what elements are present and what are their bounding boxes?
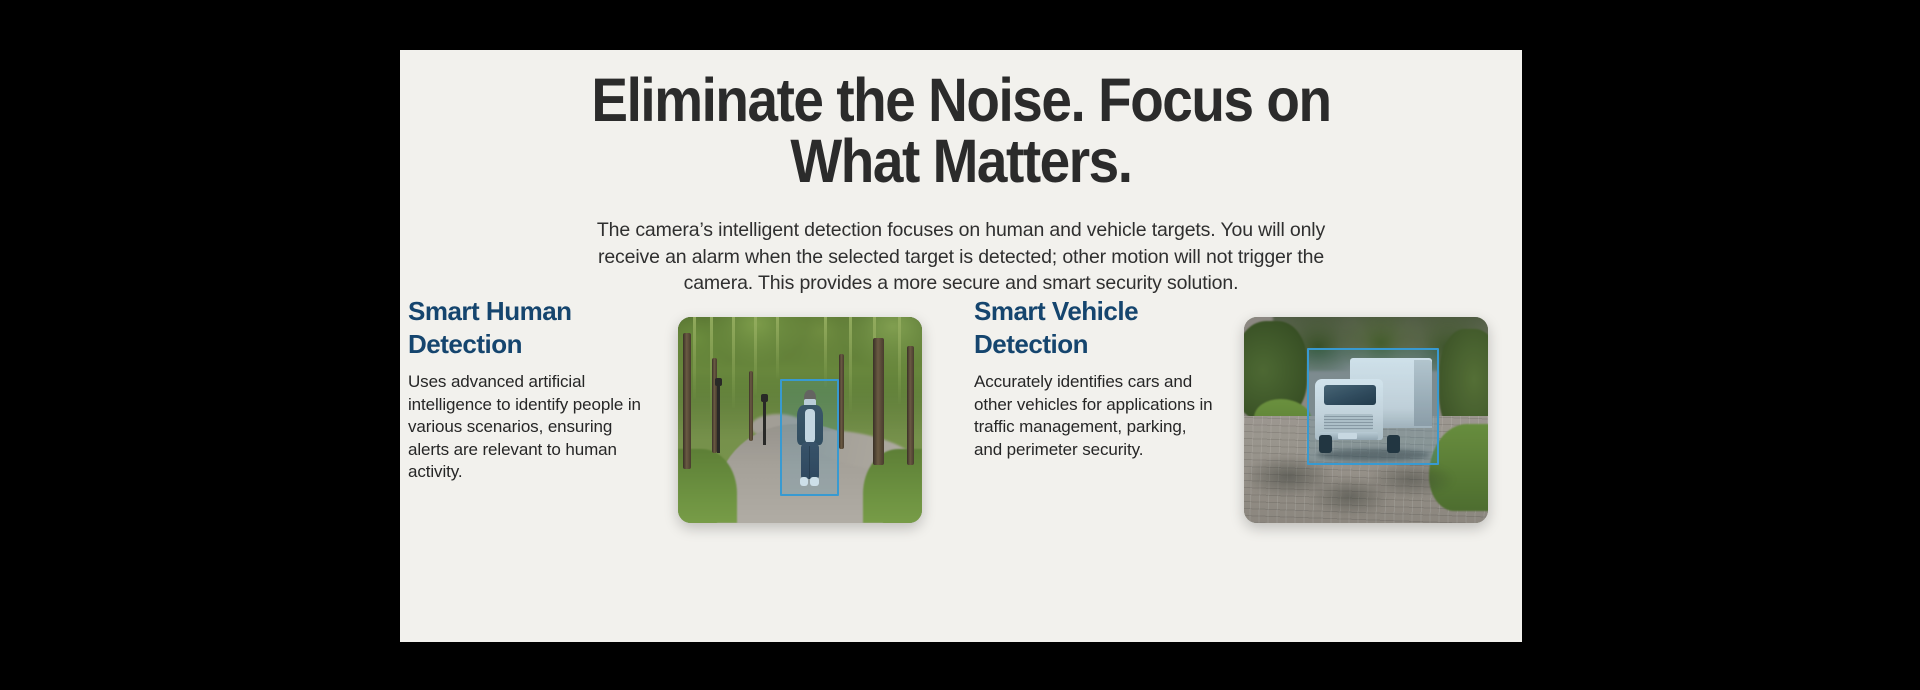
feature-image-vehicle xyxy=(1244,317,1488,523)
feature-card-human: Smart Human Detection Uses advanced arti… xyxy=(400,295,926,535)
feature-text-human: Smart Human Detection Uses advanced arti… xyxy=(408,295,648,484)
screenshot-stage: Eliminate the Noise. Focus on What Matte… xyxy=(0,0,1920,690)
page-title-line-1: Eliminate the Noise. Focus on xyxy=(591,66,1330,134)
feature-list: Smart Human Detection Uses advanced arti… xyxy=(400,295,1522,535)
feature-text-vehicle: Smart Vehicle Detection Accurately ident… xyxy=(974,295,1214,461)
park-scene xyxy=(678,317,922,523)
feature-card-vehicle: Smart Vehicle Detection Accurately ident… xyxy=(966,295,1492,535)
feature-body-vehicle: Accurately identifies cars and other veh… xyxy=(974,371,1214,461)
feature-body-human: Uses advanced artificial intelligence to… xyxy=(408,371,648,484)
page-title: Eliminate the Noise. Focus on What Matte… xyxy=(456,70,1466,192)
page-subtitle: The camera’s intelligent detection focus… xyxy=(566,217,1356,297)
driveway-scene xyxy=(1244,317,1488,523)
page-title-line-2: What Matters. xyxy=(456,131,1466,192)
feature-title-human: Smart Human Detection xyxy=(408,295,648,361)
feature-panel: Eliminate the Noise. Focus on What Matte… xyxy=(400,50,1522,642)
image-tint xyxy=(1244,317,1488,523)
feature-title-vehicle: Smart Vehicle Detection xyxy=(974,295,1214,361)
image-tint xyxy=(678,317,922,523)
feature-image-human xyxy=(678,317,922,523)
